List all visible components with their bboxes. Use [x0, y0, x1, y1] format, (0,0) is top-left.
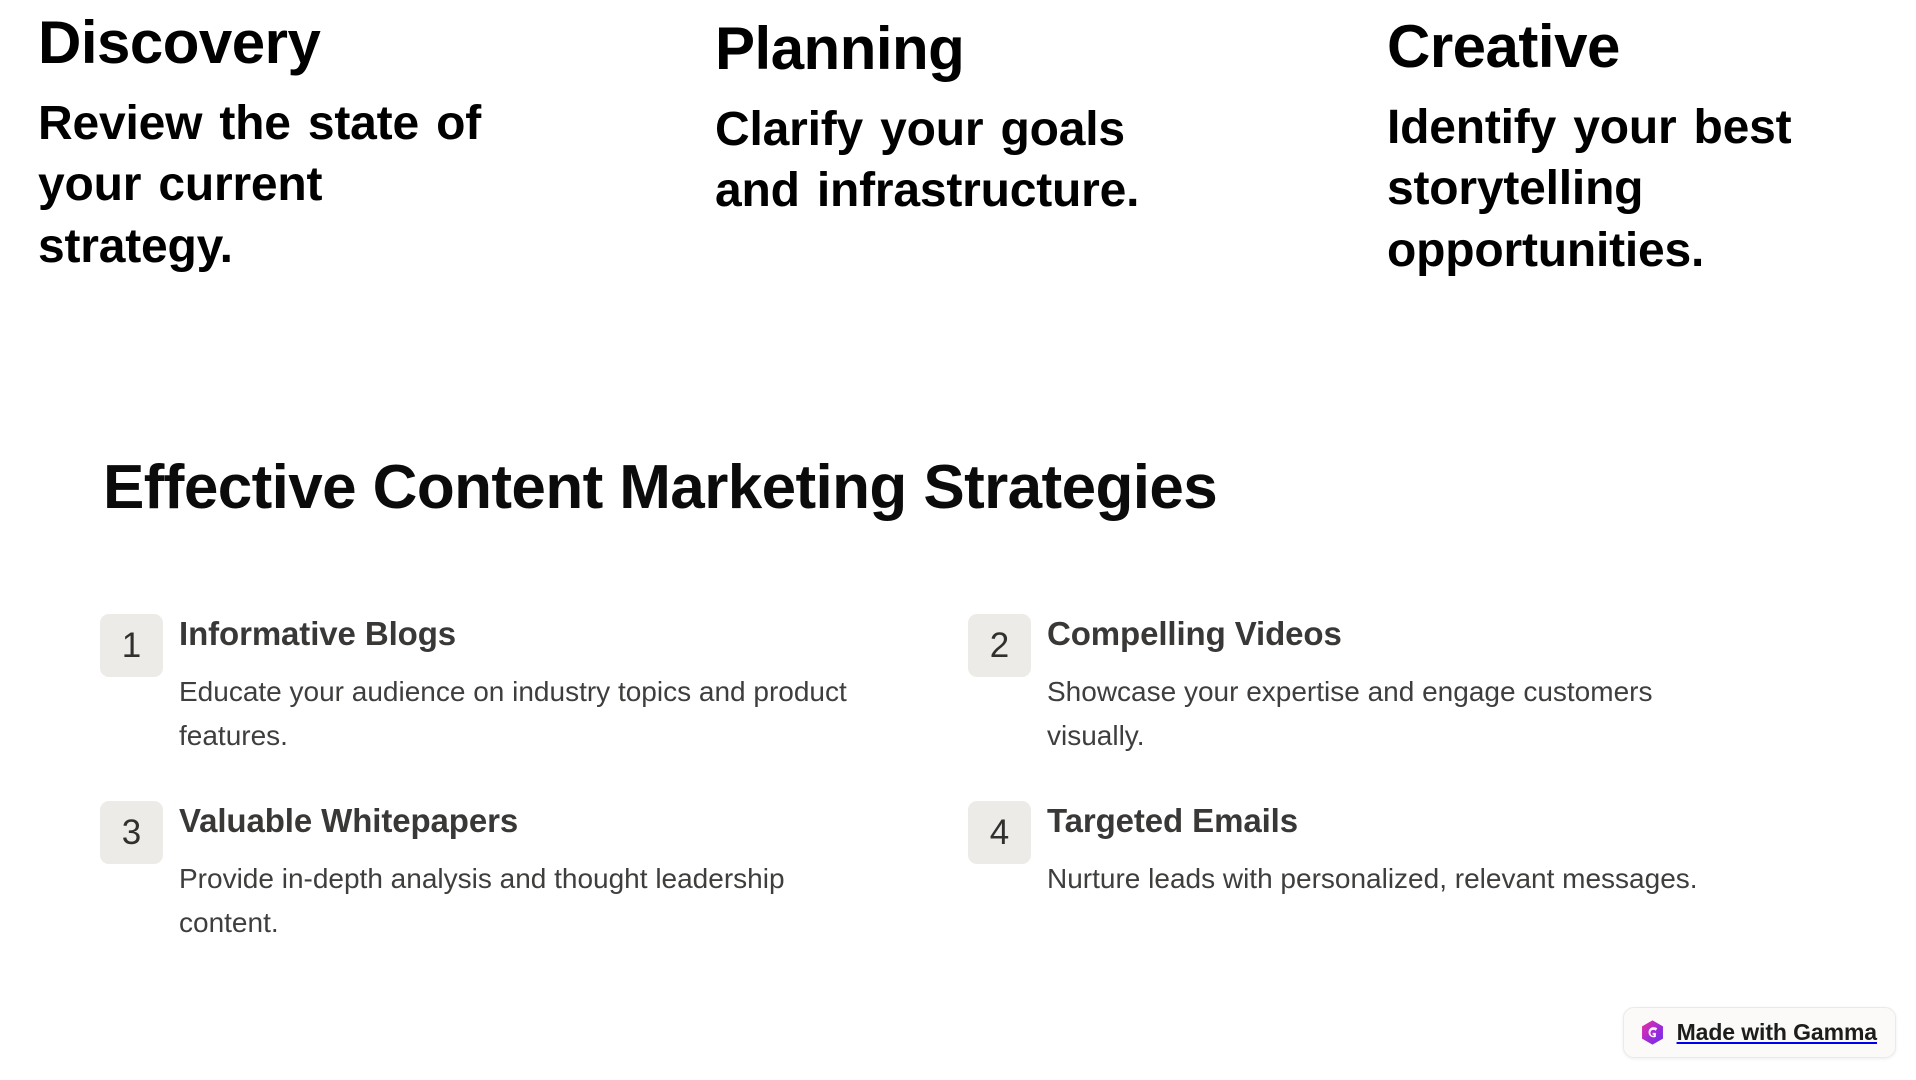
phase-column-creative: Creative Identify your best storytelling…: [1344, 0, 1916, 281]
item-number-badge: 3: [100, 801, 163, 864]
slide-canvas: Discovery Review the state of your curre…: [0, 0, 1916, 1080]
item-text-block: Compelling Videos Showcase your expertis…: [1047, 612, 1746, 757]
item-title: Valuable Whitepapers: [179, 800, 878, 841]
item-description: Educate your audience on industry topics…: [179, 670, 878, 757]
phase-title-discovery: Discovery: [38, 8, 522, 79]
item-text-block: Targeted Emails Nurture leads with perso…: [1047, 799, 1698, 901]
list-item: 4 Targeted Emails Nurture leads with per…: [968, 799, 1836, 944]
item-text-block: Informative Blogs Educate your audience …: [179, 612, 878, 757]
page-title: Effective Content Marketing Strategies: [103, 452, 1217, 523]
item-title: Informative Blogs: [179, 613, 878, 654]
list-item: 1 Informative Blogs Educate your audienc…: [100, 612, 968, 757]
phase-description-creative: Identify your best storytelling opportun…: [1387, 97, 1886, 281]
item-title: Compelling Videos: [1047, 613, 1746, 654]
list-item: 3 Valuable Whitepapers Provide in-depth …: [100, 799, 968, 944]
phase-description-discovery: Review the state of your current strateg…: [38, 93, 522, 277]
strategy-list: 1 Informative Blogs Educate your audienc…: [100, 612, 1840, 944]
phase-title-creative: Creative: [1387, 12, 1886, 83]
item-number-badge: 4: [968, 801, 1031, 864]
phase-column-discovery: Discovery Review the state of your curre…: [0, 0, 672, 277]
phase-column-planning: Planning Clarify your goals and infrastr…: [672, 0, 1344, 222]
gamma-hexagon-logo-icon: [1639, 1019, 1666, 1046]
phase-description-planning: Clarify your goals and infrastructure.: [715, 99, 1204, 222]
item-description: Showcase your expertise and engage custo…: [1047, 670, 1746, 757]
item-description: Provide in-depth analysis and thought le…: [179, 857, 878, 944]
item-number-badge: 2: [968, 614, 1031, 677]
item-description: Nurture leads with personalized, relevan…: [1047, 857, 1698, 900]
item-title: Targeted Emails: [1047, 800, 1698, 841]
list-item: 2 Compelling Videos Showcase your expert…: [968, 612, 1836, 757]
item-text-block: Valuable Whitepapers Provide in-depth an…: [179, 799, 878, 944]
made-with-gamma-button[interactable]: Made with Gamma: [1623, 1007, 1896, 1058]
made-with-gamma-label: Made with Gamma: [1677, 1021, 1877, 1044]
item-number-badge: 1: [100, 614, 163, 677]
phase-title-planning: Planning: [715, 14, 1204, 85]
phase-row: Discovery Review the state of your curre…: [0, 0, 1916, 281]
